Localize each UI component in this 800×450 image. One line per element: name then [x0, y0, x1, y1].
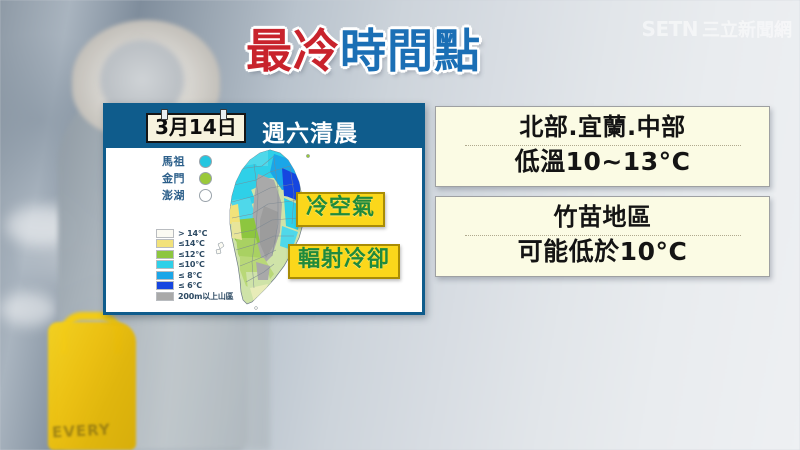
- island-color-dot-icon: [199, 155, 212, 168]
- outer-island-dot: [255, 307, 258, 310]
- temperature-label: ≤14°C: [178, 239, 205, 248]
- setn-logo-text: SETN: [642, 17, 698, 41]
- map-panel-header: 3月14日 週六清晨: [106, 106, 422, 148]
- bag-text: EVERY: [52, 420, 112, 441]
- temperature-swatch: [156, 229, 174, 238]
- info-box-hsinchu-miaoli: 竹苗地區 可能低於10°C: [435, 196, 770, 277]
- weekday-label: 週六清晨: [262, 114, 358, 148]
- calendar-ring-icon-left: [161, 109, 168, 120]
- temperature-label: ≤ 6°C: [178, 281, 202, 290]
- outer-island-dot: [306, 154, 309, 157]
- info-box-title: 北部.宜蘭.中部: [519, 114, 685, 142]
- date-chip: 3月14日: [146, 113, 246, 143]
- setn-logo-chinese: 三立新聞網: [702, 16, 792, 42]
- page-title-red: 最冷: [246, 24, 340, 78]
- taiwan-temperature-map: [212, 148, 340, 312]
- temperature-swatch: [156, 271, 174, 280]
- island-name: 馬祖: [162, 153, 192, 169]
- info-box-value: 可能低於10°C: [518, 238, 688, 267]
- callout-cold-air: 冷空氣: [296, 192, 385, 227]
- island-color-dot-icon: [199, 189, 212, 202]
- temperature-label: > 14°C: [178, 229, 207, 238]
- info-box-divider: [465, 235, 741, 236]
- temperature-swatch: [156, 239, 174, 248]
- info-box-title: 竹苗地區: [554, 204, 652, 232]
- setn-watermark: SETN 三立新聞網: [642, 16, 792, 42]
- temperature-swatch: [156, 292, 174, 301]
- island-legend-item: 金門: [162, 171, 212, 185]
- island-name: 金門: [162, 170, 192, 186]
- map-panel-body: 馬祖 金門 澎湖 > 14°C ≤14°C: [106, 148, 422, 312]
- island-legend-item: 澎湖: [162, 188, 212, 202]
- info-box-north-yilan-central: 北部.宜蘭.中部 低溫10~13°C: [435, 106, 770, 187]
- snow-blur-2: [0, 292, 58, 326]
- temperature-swatch: [156, 281, 174, 290]
- penghu-island: [218, 242, 224, 249]
- page-title-blue: 時間點: [340, 24, 481, 78]
- island-legend-item: 馬祖: [162, 154, 212, 168]
- temperature-label: ≤10°C: [178, 260, 205, 269]
- penghu-island: [216, 249, 221, 254]
- info-box-value: 低溫10~13°C: [515, 148, 691, 177]
- page-title: 最冷時間點: [246, 28, 481, 74]
- temperature-swatch: [156, 250, 174, 259]
- callout-radiative-cooling: 輻射冷卻: [288, 244, 400, 279]
- info-box-divider: [465, 145, 741, 146]
- calendar-ring-icon-right: [220, 109, 227, 120]
- temperature-label: ≤ 8°C: [178, 271, 202, 280]
- temperature-label: ≤12°C: [178, 250, 205, 259]
- island-legend: 馬祖 金門 澎湖: [162, 154, 212, 205]
- temperature-swatch: [156, 260, 174, 269]
- island-name: 澎湖: [162, 187, 192, 203]
- island-color-dot-icon: [199, 172, 212, 185]
